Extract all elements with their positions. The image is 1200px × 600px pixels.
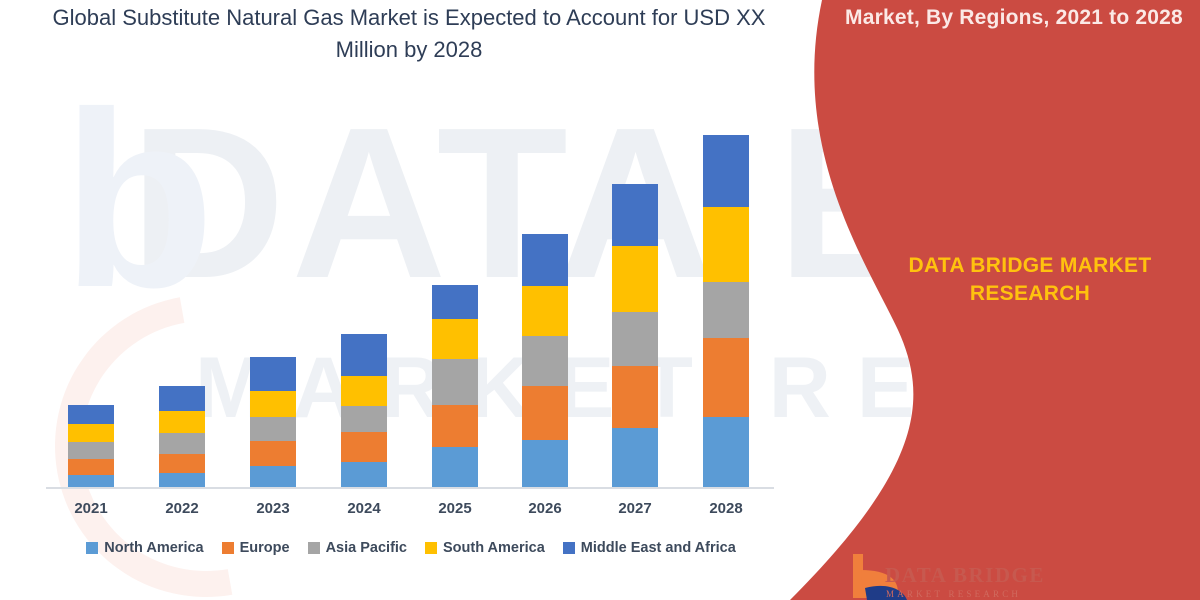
bar-segment-2022-europe[interactable] [159, 454, 205, 473]
bar-segment-2025-north-america[interactable] [432, 447, 478, 487]
bar-segment-2024-middle-east-and-africa[interactable] [341, 334, 387, 376]
chart-legend: North AmericaEuropeAsia PacificSouth Ame… [46, 540, 776, 556]
bar-2028[interactable] [703, 135, 749, 487]
chart-baseline-axis [46, 487, 774, 489]
legend-swatch-icon [563, 542, 575, 554]
bar-segment-2023-north-america[interactable] [250, 466, 296, 487]
bar-segment-2026-asia-pacific[interactable] [522, 336, 568, 386]
bar-segment-2027-europe[interactable] [612, 366, 658, 428]
bar-segment-2021-middle-east-and-africa[interactable] [68, 405, 114, 424]
bar-segment-2028-north-america[interactable] [703, 417, 749, 487]
brand-name: DATA BRIDGE MARKET RESEARCH [880, 252, 1180, 308]
bar-segment-2027-north-america[interactable] [612, 428, 658, 487]
bar-segment-2024-asia-pacific[interactable] [341, 406, 387, 432]
legend-label: South America [443, 540, 545, 556]
bar-segment-2028-middle-east-and-africa[interactable] [703, 135, 749, 207]
bar-segment-2024-north-america[interactable] [341, 462, 387, 487]
bar-segment-2027-asia-pacific[interactable] [612, 312, 658, 366]
legend-label: North America [104, 540, 203, 556]
bar-segment-2026-europe[interactable] [522, 386, 568, 440]
legend-label: Asia Pacific [326, 540, 407, 556]
x-axis-label-2027: 2027 [600, 500, 670, 517]
bar-segment-2027-south-america[interactable] [612, 246, 658, 312]
x-axis-label-2026: 2026 [510, 500, 580, 517]
bar-2026[interactable] [522, 234, 568, 487]
bar-segment-2024-europe[interactable] [341, 432, 387, 462]
legend-swatch-icon [425, 542, 437, 554]
legend-item-north-america[interactable]: North America [86, 540, 203, 556]
bar-segment-2026-middle-east-and-africa[interactable] [522, 234, 568, 286]
chart-plot-area: Global Substitute Natural Gas Market is … [0, 0, 790, 600]
bar-segment-2025-middle-east-and-africa[interactable] [432, 285, 478, 319]
bar-segment-2023-asia-pacific[interactable] [250, 417, 296, 441]
x-axis-label-2023: 2023 [238, 500, 308, 517]
bar-segment-2022-south-america[interactable] [159, 411, 205, 433]
bar-segment-2028-asia-pacific[interactable] [703, 282, 749, 338]
bar-2022[interactable] [159, 386, 205, 487]
bar-segment-2022-asia-pacific[interactable] [159, 433, 205, 454]
bar-segment-2026-south-america[interactable] [522, 286, 568, 336]
bar-2027[interactable] [612, 184, 658, 487]
legend-item-south-america[interactable]: South America [425, 540, 545, 556]
bar-2021[interactable] [68, 405, 114, 487]
x-axis-label-2024: 2024 [329, 500, 399, 517]
bar-segment-2025-south-america[interactable] [432, 319, 478, 359]
bar-segment-2025-asia-pacific[interactable] [432, 359, 478, 405]
bar-segment-2021-south-america[interactable] [68, 424, 114, 442]
logo-tagline: MARKET RESEARCH [886, 589, 1021, 599]
bar-segment-2022-north-america[interactable] [159, 473, 205, 487]
legend-swatch-icon [86, 542, 98, 554]
bar-2023[interactable] [250, 357, 296, 487]
bar-2025[interactable] [432, 285, 478, 487]
brand-line-2: RESEARCH [880, 280, 1180, 308]
legend-label: Europe [240, 540, 290, 556]
legend-item-europe[interactable]: Europe [222, 540, 290, 556]
legend-swatch-icon [222, 542, 234, 554]
x-axis-label-2028: 2028 [691, 500, 761, 517]
x-axis-label-2025: 2025 [420, 500, 490, 517]
legend-label: Middle East and Africa [581, 540, 736, 556]
bar-segment-2024-south-america[interactable] [341, 376, 387, 406]
legend-item-asia-pacific[interactable]: Asia Pacific [308, 540, 407, 556]
bar-segment-2026-north-america[interactable] [522, 440, 568, 487]
panel-title: Market, By Regions, 2021 to 2028 [828, 6, 1200, 30]
x-axis-label-2021: 2021 [56, 500, 126, 517]
bar-segment-2021-north-america[interactable] [68, 475, 114, 487]
bar-segment-2025-europe[interactable] [432, 405, 478, 447]
bar-segment-2021-europe[interactable] [68, 459, 114, 475]
bar-segment-2023-europe[interactable] [250, 441, 296, 466]
bar-segment-2021-asia-pacific[interactable] [68, 442, 114, 459]
bar-2024[interactable] [341, 334, 387, 487]
bar-segment-2028-south-america[interactable] [703, 207, 749, 282]
legend-swatch-icon [308, 542, 320, 554]
x-axis-label-2022: 2022 [147, 500, 217, 517]
chart-title: Global Substitute Natural Gas Market is … [48, 2, 770, 66]
bar-segment-2028-europe[interactable] [703, 338, 749, 417]
legend-item-middle-east-and-africa[interactable]: Middle East and Africa [563, 540, 736, 556]
brand-line-1: DATA BRIDGE MARKET [880, 252, 1180, 280]
bar-segment-2023-south-america[interactable] [250, 391, 296, 417]
bar-segment-2027-middle-east-and-africa[interactable] [612, 184, 658, 246]
logo-wordmark: DATA BRIDGE [885, 563, 1045, 588]
bar-segment-2022-middle-east-and-africa[interactable] [159, 386, 205, 411]
infographic-canvas: DATA BRIDGE MARKET RESEARCH b Global Sub… [0, 0, 1200, 600]
bar-segment-2023-middle-east-and-africa[interactable] [250, 357, 296, 391]
